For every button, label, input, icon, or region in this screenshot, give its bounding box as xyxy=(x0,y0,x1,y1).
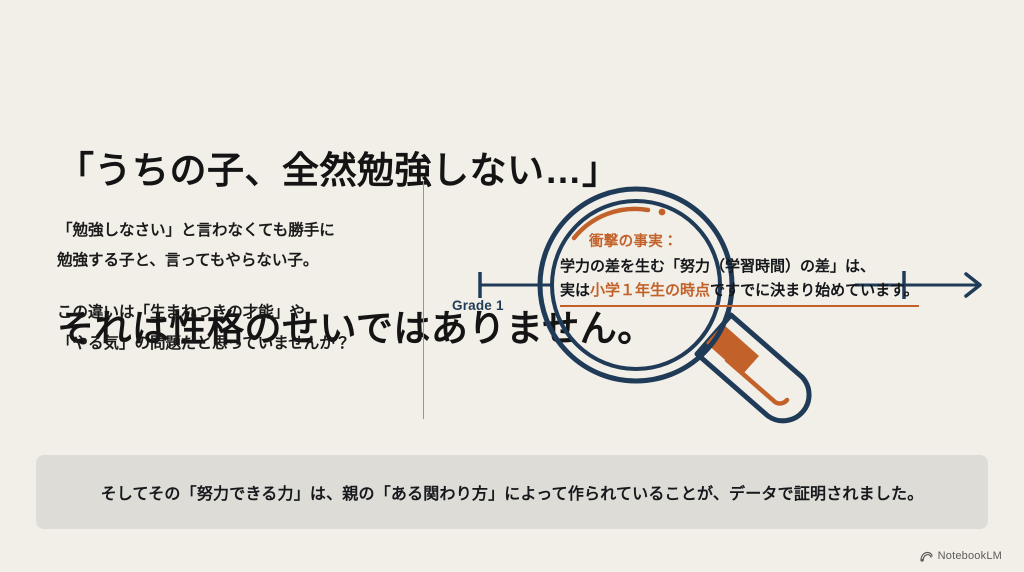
callout-line2-suffix: ですでに決まり始めています。 xyxy=(710,282,919,299)
callout-heading: 衝撃の事実： xyxy=(589,230,980,251)
body-paragraph-2: この違いは「生まれつきの才能」や 「やる気」の問題だと思っていませんか？ xyxy=(57,298,407,358)
headline-line-1: 「うちの子、全然勉強しない…」 xyxy=(57,145,777,198)
callout-line2-prefix: 実は xyxy=(560,282,590,299)
axis-label-grade1: Grade 1 xyxy=(452,298,504,313)
body-copy: 「勉強しなさい」と言わなくても勝手に 勉強する子と、言ってもやらない子。 この違… xyxy=(57,216,407,359)
notebooklm-watermark: NotebookLM xyxy=(920,550,1002,562)
bottom-banner-text: そしてその「努力できる力」は、親の「ある関わり方」によって作られていることが、デ… xyxy=(60,480,964,504)
vertical-divider xyxy=(423,181,424,419)
callout-line-1: 学力の差を生む「努力（学習時間）の差」は、 xyxy=(560,255,980,279)
bottom-banner: そしてその「努力できる力」は、親の「ある関わり方」によって作られていることが、デ… xyxy=(36,455,988,529)
notebooklm-logo-icon xyxy=(920,551,933,562)
callout-line2-highlight: 小学１年生の時点 xyxy=(590,282,710,299)
body-paragraph-1: 「勉強しなさい」と言わなくても勝手に 勉強する子と、言ってもやらない子。 xyxy=(57,216,407,276)
notebooklm-label: NotebookLM xyxy=(938,550,1002,562)
callout-line-2: 実は小学１年生の時点ですでに決まり始めています。 xyxy=(560,279,980,306)
callout-block: 衝撃の事実： 学力の差を生む「努力（学習時間）の差」は、 実は小学１年生の時点で… xyxy=(560,230,980,307)
slide-canvas: 「うちの子、全然勉強しない…」 それは性格のせいではありません。 「勉強しなさい… xyxy=(0,0,1024,572)
